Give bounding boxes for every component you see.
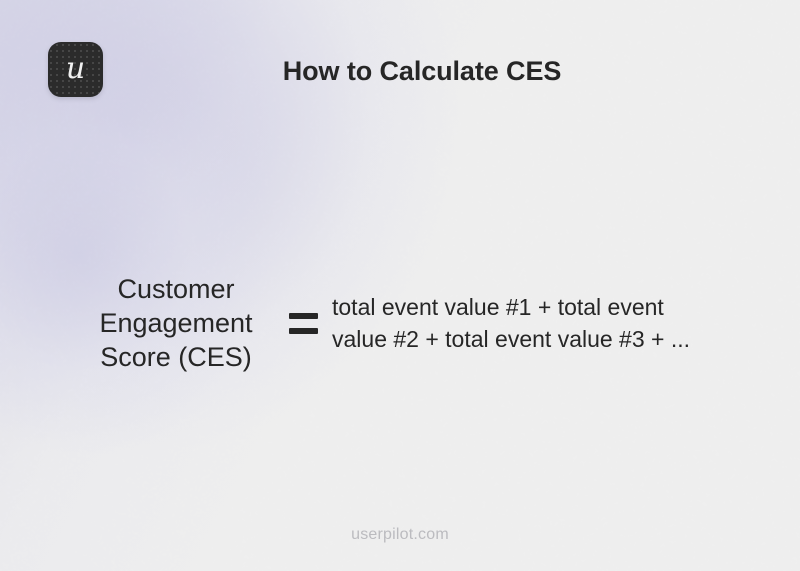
equals-bar-top [289,313,318,319]
formula-left-label: Customer Engagement Score (CES) [78,272,274,374]
formula-right-expression: total event value #1 + total event value… [332,291,722,355]
equals-sign-icon [274,313,332,334]
footer-url: userpilot.com [0,526,800,544]
formula-right-line-2: value #2 + total event value #3 + ... [332,323,722,355]
userpilot-logo-icon: u [48,42,103,97]
equals-bar-bottom [289,328,318,334]
page-title: How to Calculate CES [122,56,722,87]
formula-left-line-2: Engagement [78,306,274,340]
infographic-canvas: u How to Calculate CES Customer Engageme… [0,0,800,571]
formula-right-line-1: total event value #1 + total event [332,291,722,323]
logo-letter: u [48,42,103,97]
formula-block: Customer Engagement Score (CES) total ev… [78,272,728,374]
formula-left-line-1: Customer [78,272,274,306]
background-tint-left-edge [0,40,280,470]
formula-left-line-3: Score (CES) [78,340,274,374]
